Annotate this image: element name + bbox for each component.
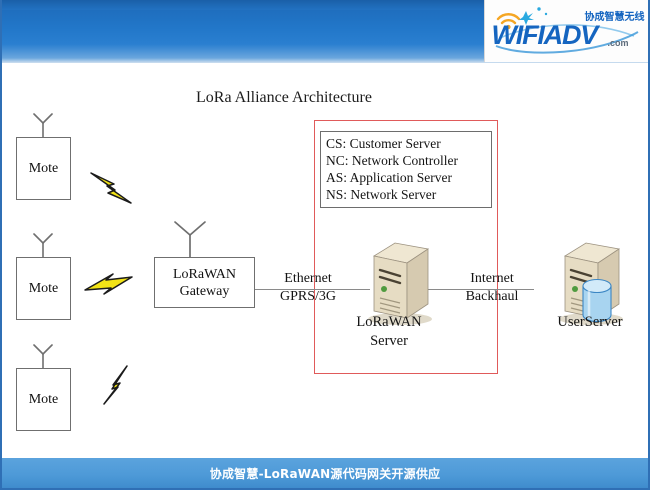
logo-chinese-text: 协成智慧无线: [585, 8, 645, 23]
diagram-canvas: LoRa Alliance Architecture CS: Customer …: [0, 63, 650, 458]
lightning-bolt-icon: [83, 268, 135, 302]
slide-page: WIFIADV .com 协成智慧无线 LoRa Alliance Archit…: [0, 0, 650, 490]
mote-node-1[interactable]: Mote: [16, 137, 71, 200]
mote-label: Mote: [29, 161, 59, 177]
caption-line1: LoRaWAN: [327, 313, 451, 332]
abbreviation-legend: CS: Customer Server NC: Network Controll…: [320, 131, 492, 208]
mote-node-2[interactable]: Mote: [16, 257, 71, 320]
legend-item-nc: NC: Network Controller: [326, 152, 487, 169]
antenna-icon: [168, 220, 212, 258]
user-server-caption: UserServer: [528, 313, 650, 332]
caption-line2: Server: [327, 332, 451, 351]
gateway-label-line1: LoRaWAN: [173, 266, 236, 283]
logo-wordmark: WIFIADV: [492, 22, 598, 49]
link-label-internet: Internet: [452, 270, 532, 288]
legend-item-cs: CS: Customer Server: [326, 135, 487, 152]
mote-label: Mote: [29, 281, 59, 297]
lightning-bolt-icon: [88, 168, 134, 208]
mote-node-3[interactable]: Mote: [16, 368, 71, 431]
lorawan-server-caption: LoRaWAN Server: [327, 313, 451, 351]
mote-label: Mote: [29, 392, 59, 408]
lorawan-gateway-node[interactable]: LoRaWAN Gateway: [154, 257, 255, 308]
antenna-icon: [26, 113, 60, 137]
caption-line1: UserServer: [528, 313, 650, 332]
lightning-bolt-icon: [96, 363, 136, 407]
antenna-icon: [26, 233, 60, 257]
brand-logo-panel[interactable]: WIFIADV .com 协成智慧无线: [484, 0, 650, 62]
legend-item-ns: NS: Network Server: [326, 186, 487, 203]
footer-text: 协成智慧-LoRaWAN源代码网关开源供应: [210, 465, 440, 482]
header-bar: WIFIADV .com 协成智慧无线: [0, 0, 650, 63]
logo-dotcom: .com: [608, 38, 629, 48]
link-label-gprs: GPRS/3G: [268, 288, 348, 306]
footer-bar: 协成智慧-LoRaWAN源代码网关开源供应: [2, 458, 648, 488]
link-label-backhaul: Backhaul: [452, 288, 532, 306]
gateway-label-line2: Gateway: [180, 283, 230, 300]
link-label-ethernet: Ethernet: [268, 270, 348, 288]
antenna-icon: [26, 344, 60, 368]
diagram-title: LoRa Alliance Architecture: [196, 89, 372, 107]
legend-item-as: AS: Application Server: [326, 169, 487, 186]
